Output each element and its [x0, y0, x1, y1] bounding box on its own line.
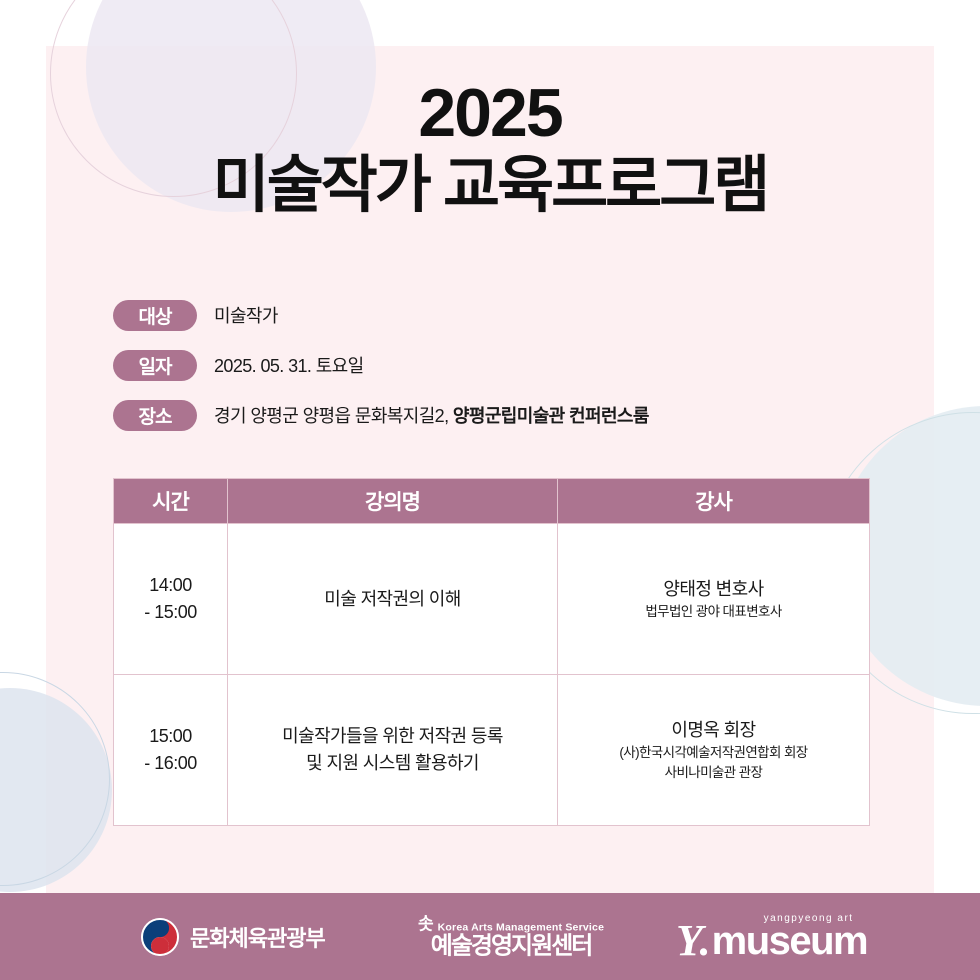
- ymuseum-right-block: yangpyeong art museum: [712, 913, 868, 961]
- info-row-audience: 대상 미술작가: [113, 298, 873, 332]
- logo-yangpyeong-art-museum: Y. yangpyeong art museum: [676, 913, 867, 961]
- lecturer-name-2: 이명옥 회장: [564, 717, 863, 743]
- ymuseum-y-mark-icon: Y.: [676, 921, 711, 961]
- time-end-1: - 15:00: [120, 599, 221, 626]
- schedule-header-row: 시간 강의명 강사: [114, 479, 870, 524]
- info-value-audience: 미술작가: [214, 302, 278, 328]
- cell-lecture-1: 미술 저작권의 이해: [228, 524, 558, 675]
- title-year: 2025: [0, 78, 980, 149]
- info-value-venue: 경기 양평군 양평읍 문화복지길2, 양평군립미술관 컨퍼런스룸: [214, 402, 649, 428]
- info-row-date: 일자 2025. 05. 31. 토요일: [113, 348, 873, 382]
- lecturer-affiliation-2a: (사)한국시각예술저작권연합회 회장: [564, 743, 863, 763]
- lecturer-name-1: 양태정 변호사: [564, 576, 863, 602]
- time-start-1: 14:00: [120, 572, 221, 599]
- title-block: 2025 미술작가 교육프로그램: [0, 78, 980, 221]
- taegeuk-icon: [141, 918, 179, 956]
- lecture-title-1-line1: 미술 저작권의 이해: [234, 586, 551, 613]
- cell-time-2: 15:00 - 16:00: [114, 675, 228, 826]
- info-value-venue-place: 양평군립미술관 컨퍼런스룸: [453, 406, 649, 426]
- cell-time-1: 14:00 - 15:00: [114, 524, 228, 675]
- poster-canvas: 2025 미술작가 교육프로그램 대상 미술작가 일자 2025. 05. 31…: [0, 0, 980, 980]
- column-header-lecture: 강의명: [228, 479, 558, 524]
- info-list: 대상 미술작가 일자 2025. 05. 31. 토요일 장소 경기 양평군 양…: [113, 298, 873, 448]
- kams-mark-icon: 솟: [418, 915, 434, 932]
- info-label-venue: 장소: [113, 400, 197, 431]
- lecture-title-2-line1: 미술작가들을 위한 저작권 등록: [234, 723, 551, 750]
- kams-top-line: 솟 Korea Arts Management Service: [418, 915, 604, 933]
- info-label-audience: 대상: [113, 300, 197, 331]
- cell-lecturer-2: 이명옥 회장 (사)한국시각예술저작권연합회 회장 사비나미술관 관장: [558, 675, 870, 826]
- column-header-time: 시간: [114, 479, 228, 524]
- footer-bar: 문화체육관광부 솟 Korea Arts Management Service …: [0, 893, 980, 980]
- lecturer-affiliation-2b: 사비나미술관 관장: [564, 763, 863, 783]
- lecturer-affiliation-1a: 법무법인 광야 대표변호사: [564, 602, 863, 622]
- info-value-date-text: 2025. 05. 31. 토요일: [214, 356, 364, 376]
- lecture-title-2-line2: 및 지원 시스템 활용하기: [234, 750, 551, 777]
- logo-korea-arts-management-service: 솟 Korea Arts Management Service 예술경영지원센터: [418, 915, 604, 958]
- table-row: 15:00 - 16:00 미술작가들을 위한 저작권 등록 및 지원 시스템 …: [114, 675, 870, 826]
- time-end-2: - 16:00: [120, 750, 221, 777]
- cell-lecturer-1: 양태정 변호사 법무법인 광야 대표변호사: [558, 524, 870, 675]
- logo-ministry-culture-sports-tourism: 문화체육관광부: [141, 918, 325, 956]
- ymuseum-label-word: museum: [712, 921, 868, 961]
- page-title: 미술작가 교육프로그램: [0, 151, 980, 220]
- info-value-date: 2025. 05. 31. 토요일: [214, 352, 364, 378]
- logo-ministry-label: 문화체육관광부: [190, 921, 325, 953]
- info-value-audience-text: 미술작가: [214, 306, 278, 326]
- info-value-venue-address: 경기 양평군 양평읍 문화복지길2,: [214, 406, 453, 426]
- info-label-date: 일자: [113, 350, 197, 381]
- cell-lecture-2: 미술작가들을 위한 저작권 등록 및 지원 시스템 활용하기: [228, 675, 558, 826]
- time-start-2: 15:00: [120, 723, 221, 750]
- info-row-venue: 장소 경기 양평군 양평읍 문화복지길2, 양평군립미술관 컨퍼런스룸: [113, 398, 873, 432]
- column-header-lecturer: 강사: [558, 479, 870, 524]
- schedule-table: 시간 강의명 강사 14:00 - 15:00 미술 저작권의 이해 양태정 변…: [113, 478, 870, 826]
- kams-label-korean: 예술경영지원센터: [431, 934, 592, 958]
- table-row: 14:00 - 15:00 미술 저작권의 이해 양태정 변호사 법무법인 광야…: [114, 524, 870, 675]
